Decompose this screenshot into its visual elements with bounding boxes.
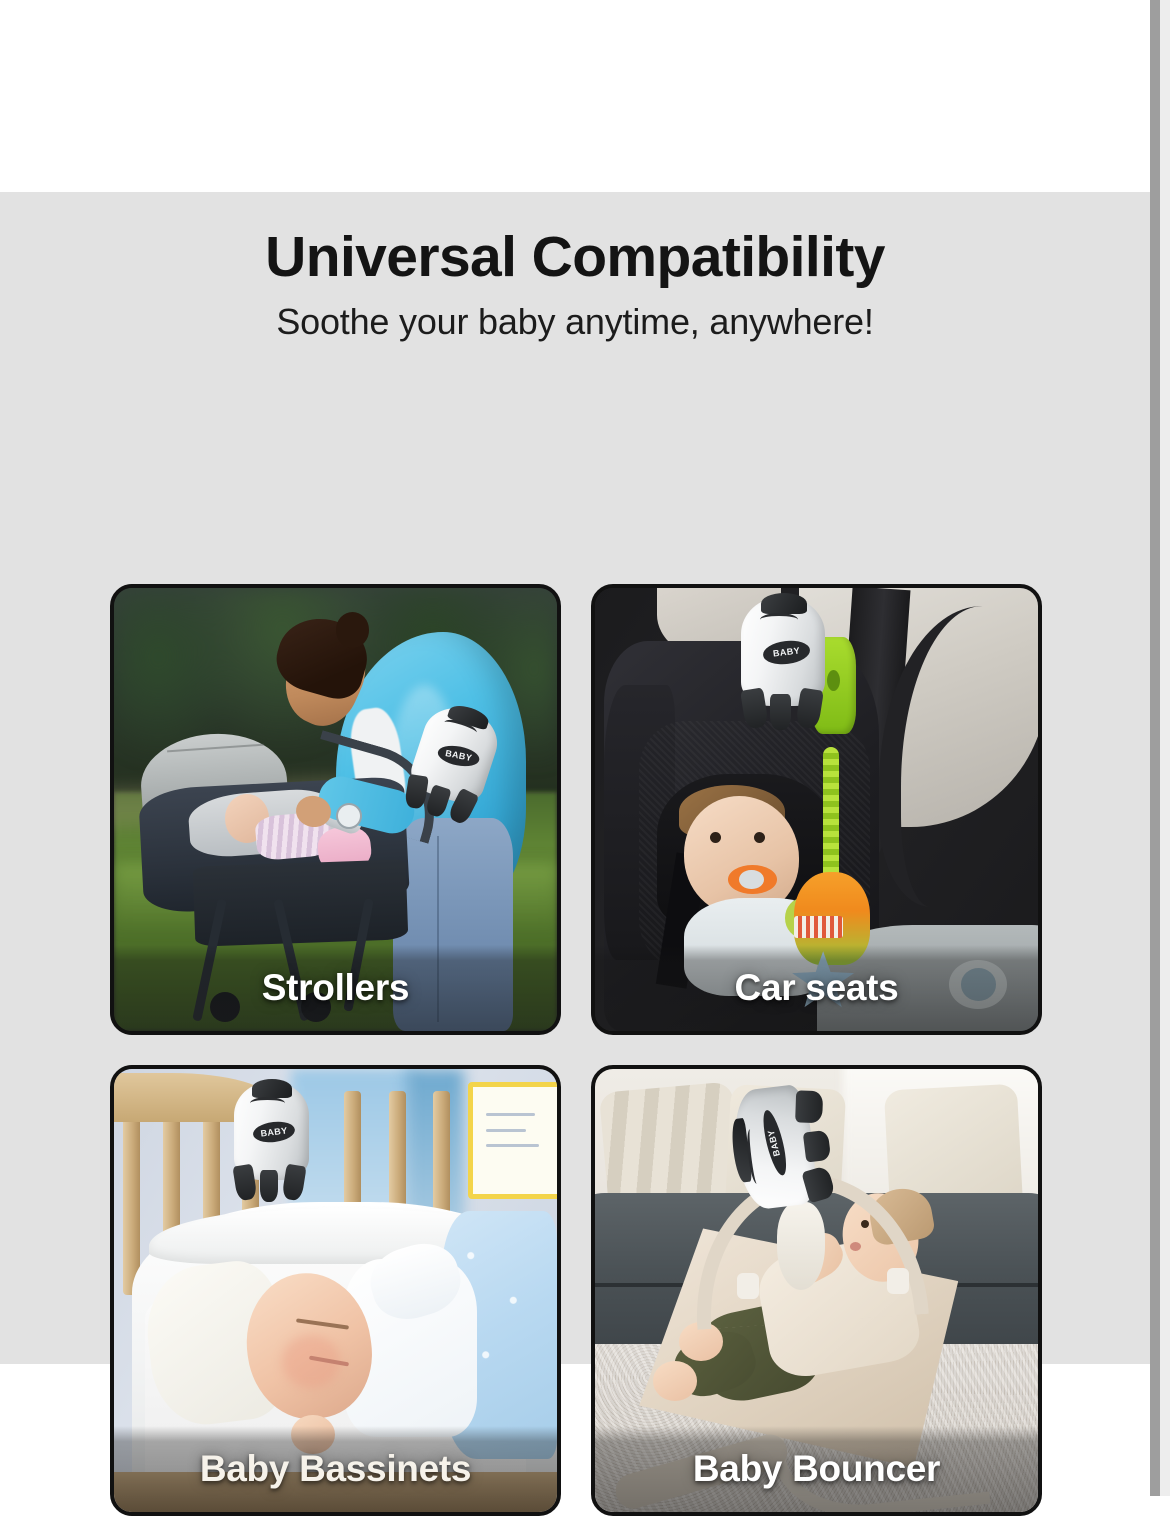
compatibility-card-grid: BABY Strollers (110, 584, 1042, 1516)
device-fin-left (404, 773, 429, 808)
device-fin-middle (425, 784, 452, 818)
device-brand-text: BABY (444, 748, 472, 762)
note-line (486, 1129, 526, 1132)
baby-soother-device: BABY (741, 597, 825, 730)
stroller-wheel (210, 992, 240, 1022)
device-fin-middle (803, 1129, 831, 1162)
card-baby-bassinets[interactable]: BABY Baby Bassinets (110, 1065, 561, 1516)
heading-block: Universal Compatibility Soothe your baby… (0, 228, 1150, 341)
car-baby-eye (710, 832, 721, 843)
toy-spiral-cord (823, 747, 839, 880)
device-nose-cone (252, 1079, 293, 1098)
baby-soother-device: BABY (234, 1082, 309, 1202)
scene-car-seats: BABY (595, 588, 1038, 1031)
device-brand-text: BABY (260, 1126, 288, 1138)
page-title: Universal Compatibility (0, 228, 1150, 288)
device-brand-text: BABY (767, 1129, 782, 1157)
stroller-frame-legs (167, 898, 406, 1022)
stroller-leg (343, 898, 374, 1012)
scene-strollers: BABY (114, 588, 557, 1031)
device-fin-middle (770, 694, 791, 730)
mother-jeans (393, 818, 513, 1031)
jeans-seam (437, 836, 439, 1022)
page-root: Universal Compatibility Soothe your baby… (0, 0, 1170, 1496)
car-seat-cover-button-inner (961, 968, 996, 1001)
scrollbar-thumb[interactable] (1150, 0, 1160, 1496)
stroller-wheel (301, 992, 331, 1022)
card-baby-bouncer[interactable]: BABY Baby Bouncer (591, 1065, 1042, 1516)
clamp-pivot-hole (827, 670, 840, 691)
device-fin-left (232, 1164, 257, 1202)
device-fin-left (802, 1164, 837, 1202)
toy-bar-clip (737, 1273, 759, 1299)
scene-baby-bouncer: BABY (595, 1069, 1038, 1512)
hanging-toy-stripe (794, 916, 843, 938)
card-strollers[interactable]: BABY Strollers (110, 584, 561, 1035)
device-eyebrow (760, 613, 799, 627)
device-fin-right (795, 687, 823, 729)
device-fins (743, 687, 824, 730)
device-fin-middle (260, 1170, 279, 1202)
baby-soother-device: BABY (730, 1081, 837, 1211)
device-fin-left (740, 687, 768, 729)
note-line (486, 1113, 535, 1116)
note-line (486, 1144, 539, 1147)
page-subtitle: Soothe your baby anytime, anywhere! (0, 302, 1150, 342)
nursery-wall-note (468, 1082, 557, 1198)
card-car-seats[interactable]: BABY Car seats (591, 584, 1042, 1035)
scene-baby-bassinets: BABY (114, 1069, 557, 1512)
mother-wristwatch (336, 803, 362, 829)
crib-base-rail (114, 1472, 557, 1512)
device-brand-text: BABY (773, 646, 801, 658)
mother-hair-bun (336, 612, 369, 647)
content-panel: Universal Compatibility Soothe your baby… (0, 192, 1150, 1364)
device-fin-right (282, 1164, 307, 1202)
toy-bar-clip (887, 1268, 909, 1294)
device-nose-cone (761, 593, 806, 614)
device-eyebrow (250, 1097, 285, 1110)
device-fins (235, 1164, 307, 1202)
bouncer-baby-foot (653, 1361, 697, 1401)
device-fin-right (796, 1090, 824, 1123)
